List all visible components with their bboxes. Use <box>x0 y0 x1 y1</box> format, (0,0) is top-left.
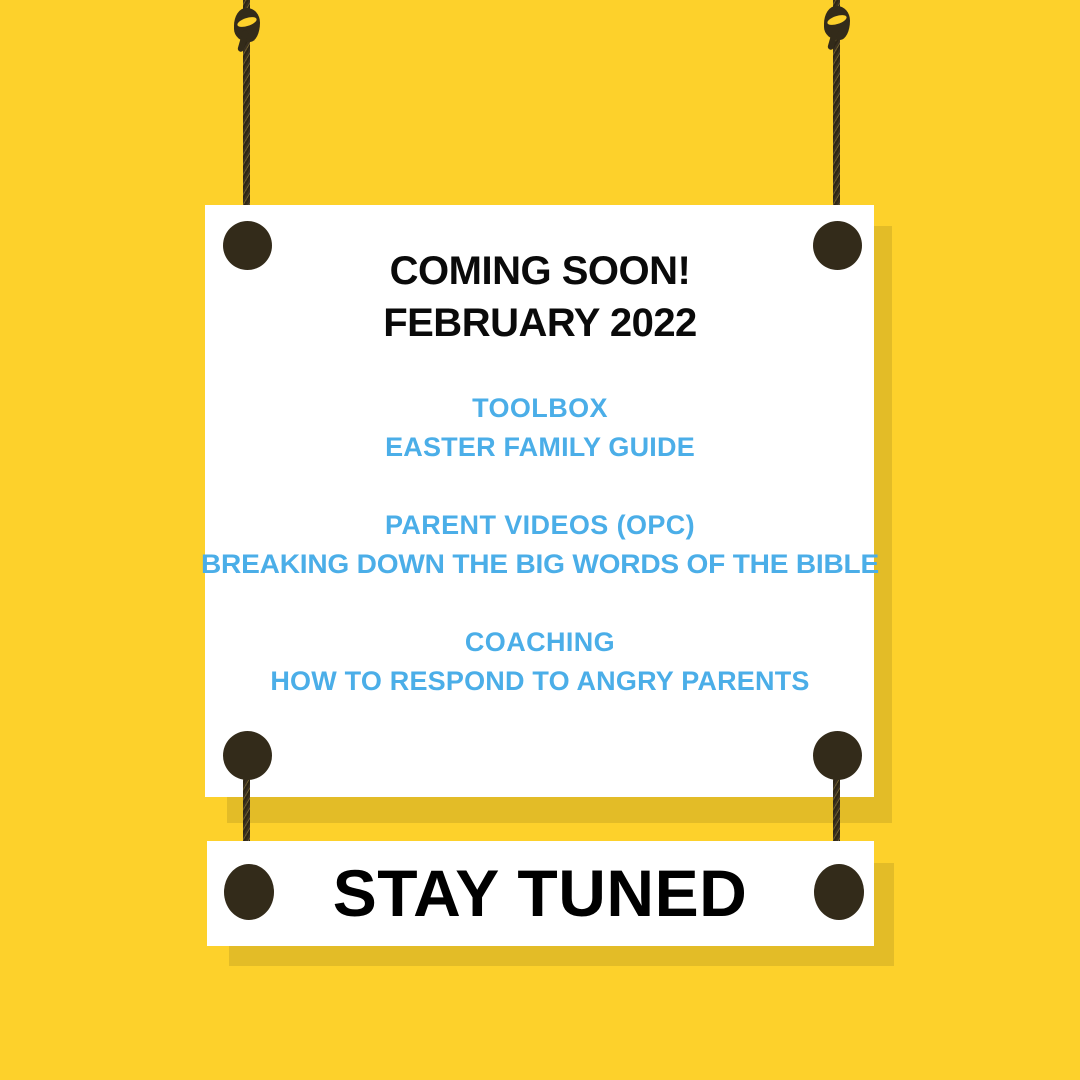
stay-tuned-text: STAY TUNED <box>0 860 1080 926</box>
rope-knob-mid-right <box>813 731 862 780</box>
rope-knot-right <box>824 6 850 40</box>
rope-knob-bottom-right <box>814 864 864 920</box>
section-2-title: PARENT VIDEOS (OPC) <box>0 506 1080 545</box>
section-3-subtitle-text: HOW TO RESPOND TO ANGRY PARENTS <box>270 666 809 696</box>
section-2-title-text: PARENT VIDEOS (OPC) <box>385 510 695 540</box>
stay-tuned-label: STAY TUNED <box>333 856 748 930</box>
poster-canvas: COMING SOON! FEBRUARY 2022 TOOLBOX EASTE… <box>0 0 1080 1080</box>
section-2-subtitle: BREAKING DOWN THE BIG WORDS OF THE BIBLE <box>0 545 1080 584</box>
section-3-title-text: COACHING <box>465 627 615 657</box>
headline-line-2: FEBRUARY 2022 <box>0 297 1080 349</box>
headline-text-1: COMING SOON! <box>390 249 691 293</box>
rope-knot-left <box>234 8 260 42</box>
headline-line-1: COMING SOON! <box>0 245 1080 297</box>
section-1-subtitle-text: EASTER FAMILY GUIDE <box>385 432 695 462</box>
rope-knob-top-left <box>223 221 272 270</box>
rope-knob-bottom-left <box>224 864 274 920</box>
section-3-title: COACHING <box>0 623 1080 662</box>
headline-text-2: FEBRUARY 2022 <box>383 301 697 345</box>
section-3-subtitle: HOW TO RESPOND TO ANGRY PARENTS <box>0 662 1080 701</box>
section-2-subtitle-text: BREAKING DOWN THE BIG WORDS OF THE BIBLE <box>201 549 879 579</box>
section-1-title: TOOLBOX <box>0 389 1080 428</box>
rope-knob-mid-left <box>223 731 272 780</box>
rope-knob-top-right <box>813 221 862 270</box>
section-1-title-text: TOOLBOX <box>472 393 608 423</box>
section-1-subtitle: EASTER FAMILY GUIDE <box>0 428 1080 467</box>
